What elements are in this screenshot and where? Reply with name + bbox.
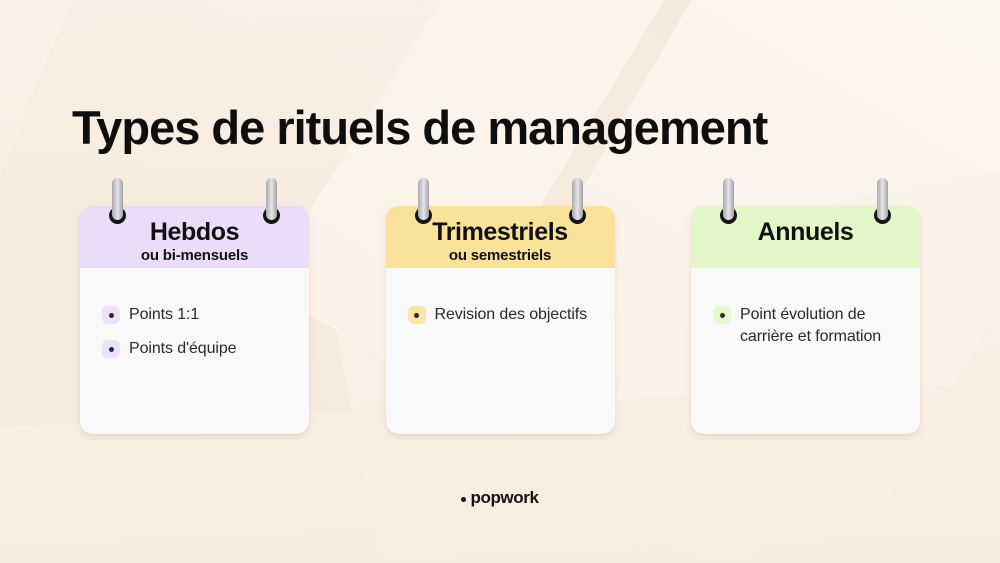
card-subtitle: ou bi-mensuels	[141, 248, 248, 263]
calendar-pin-bar-icon	[572, 178, 583, 220]
card-subtitle: ou semestriels	[449, 248, 551, 263]
list-item-label: Points d'équipe	[129, 338, 236, 360]
card-annuels: Annuels Point évolution de carrière et f…	[691, 206, 920, 434]
calendar-pin-bar-icon	[877, 178, 888, 220]
calendar-card[interactable]: Annuels Point évolution de carrière et f…	[691, 206, 920, 434]
slide-canvas: Types de rituels de management Hebdos ou…	[0, 0, 1000, 563]
brand-name: popwork	[470, 488, 538, 508]
bullet-marker-icon	[102, 306, 120, 324]
list-item-label: Points 1:1	[129, 304, 199, 326]
card-body: Revision des objectifs	[386, 268, 615, 434]
calendar-pin-icon	[418, 178, 429, 224]
bullet-dot-icon	[109, 313, 114, 318]
page-title: Types de rituels de management	[72, 101, 952, 155]
calendar-pin-icon	[572, 178, 583, 224]
card-trimestriels: Trimestriels ou semestriels Revision des…	[386, 206, 615, 434]
bullet-marker-icon	[713, 306, 731, 324]
list-item-label: Revision des objectifs	[435, 304, 588, 326]
list-item: Point évolution de carrière et formation	[713, 304, 904, 348]
list-item: Points 1:1	[102, 304, 293, 326]
list-item-label: Point évolution de carrière et formation	[740, 304, 904, 348]
calendar-pin-icon	[723, 178, 734, 224]
bullet-marker-icon	[102, 340, 120, 358]
calendar-pin-bar-icon	[418, 178, 429, 220]
calendar-pin-icon	[877, 178, 888, 224]
card-title: Hebdos	[150, 220, 239, 245]
calendar-pin-bar-icon	[266, 178, 277, 220]
footer-logo: popwork	[0, 488, 1000, 508]
list-item: Points d'équipe	[102, 338, 293, 360]
cards-row: Hebdos ou bi-mensuels Points 1:1	[80, 206, 920, 434]
calendar-pin-icon	[266, 178, 277, 224]
card-title: Annuels	[758, 220, 854, 245]
calendar-pin-bar-icon	[112, 178, 123, 220]
bullet-dot-icon	[720, 313, 725, 318]
card-body: Point évolution de carrière et formation	[691, 268, 920, 434]
calendar-card[interactable]: Hebdos ou bi-mensuels Points 1:1	[80, 206, 309, 434]
bullet-dot-icon	[414, 313, 419, 318]
card-body: Points 1:1 Points d'équipe	[80, 268, 309, 434]
list-item: Revision des objectifs	[408, 304, 599, 326]
calendar-pin-bar-icon	[723, 178, 734, 220]
card-title: Trimestriels	[432, 220, 568, 245]
dot-icon	[461, 497, 466, 502]
bullet-marker-icon	[408, 306, 426, 324]
calendar-pin-icon	[112, 178, 123, 224]
calendar-card[interactable]: Trimestriels ou semestriels Revision des…	[386, 206, 615, 434]
bullet-dot-icon	[109, 347, 114, 352]
card-hebdos: Hebdos ou bi-mensuels Points 1:1	[80, 206, 309, 434]
